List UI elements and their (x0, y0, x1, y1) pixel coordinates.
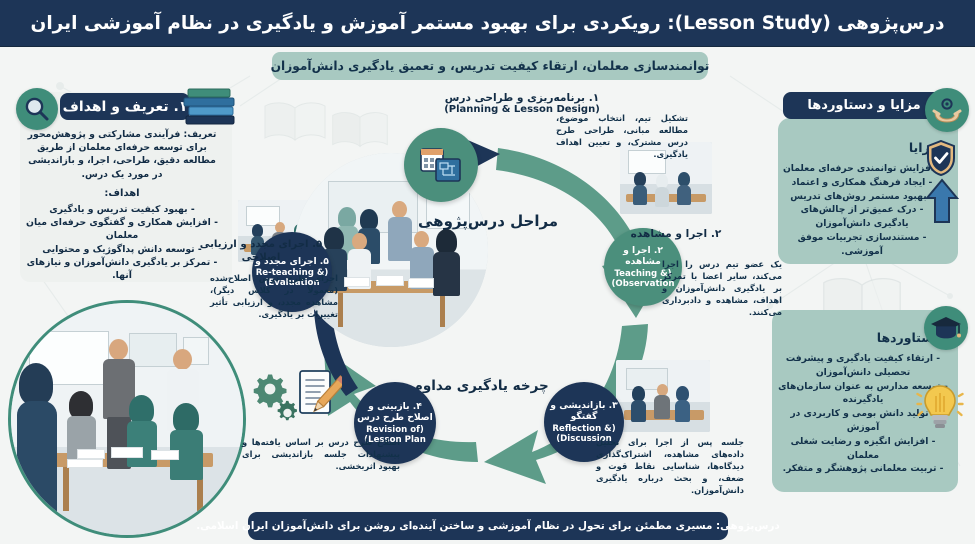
magnifier-icon (16, 88, 58, 130)
discussion-thumbnail-bottom-right (616, 360, 710, 432)
section-title-definition-label: ۱. تعریف و اهداف (63, 99, 188, 115)
step-desc-teaching: یک عضو تیم درس را اجرا می‌کند، سایر اعضا… (662, 258, 782, 318)
list-item: - بهبود مستمر روش‌های تدریس (782, 190, 942, 204)
shield-check-icon (926, 140, 956, 176)
step-title-reteaching-fa: ۵. اجرای مجدد و ارزیابی اصلاحی (196, 238, 326, 265)
header-banner: درس‌پژوهی (Lesson Study): رویکردی برای ب… (0, 0, 975, 46)
document-pencil-icon (296, 368, 342, 424)
cycle-node-planning[interactable] (404, 128, 478, 202)
lightbulb-icon (916, 382, 964, 432)
step-title-teaching: ۲. اجرا و مشاهده (616, 228, 736, 240)
up-arrow-icon (925, 178, 959, 224)
list-item: - ارتقاء کیفیت یادگیری و پیشرفت تحصیلی د… (774, 352, 952, 380)
footer-text: درس‌پژوهی: مسیری مطمئن برای تحول در نظام… (196, 520, 779, 532)
section-title-benefits-label: مزایا و دستاوردها (807, 98, 920, 113)
aims-list: - بهبود کیفیت تدریس و یادگیری - افزایش ه… (22, 203, 222, 282)
list-item: - مستندسازی تجربیات موفق آموزشی. (782, 231, 942, 259)
subtitle-banner: توانمندسازی معلمان، ارتقاء کیفیت تدریس، … (272, 52, 708, 80)
section-title-benefits: مزایا و دستاوردها (783, 92, 945, 119)
section-title-definition: ۱. تعریف و اهداف (60, 93, 190, 120)
list-item: - بهبود کیفیت تدریس و یادگیری (22, 203, 222, 216)
list-item: - تمرکز بر یادگیری دانش‌آموزان و نیازهای… (22, 256, 222, 282)
step-desc-reflection: جلسه پس از اجرا برای تحلیل داده‌های مشاه… (596, 436, 744, 496)
cycle-bottom-label: چرخه یادگیری مداوم (413, 378, 549, 394)
step-title-teaching-fa: ۲. اجرا و مشاهده (616, 228, 736, 240)
cycle-node-reflection-fa: ۳. بازاندیشی و گفتگو (544, 400, 624, 423)
list-item: - توسعه دانش پداگوژیک و محتوایی (22, 243, 222, 256)
list-item: - افزایش توانمندی حرفه‌ای معلمان (782, 162, 942, 176)
advantages-list: - افزایش توانمندی حرفه‌ای معلمان - ایجاد… (782, 162, 942, 259)
graduation-cap-icon (924, 306, 968, 350)
footer-banner: درس‌پژوهی: مسیری مطمئن برای تحول در نظام… (248, 512, 728, 540)
list-item: - افزایش انگیزه و رضایت شغلی معلمان (774, 435, 952, 463)
step-desc-reteaching: اجرای طرح درس اصلاح‌شده (معمولاً در کلاس… (210, 272, 338, 320)
books-stack-icon (182, 85, 238, 127)
cycle-node-revision-fa: ۴. بازبینی و اصلاح طرح درس (354, 401, 436, 424)
infographic-canvas: درس‌پژوهی (Lesson Study): رویکردی برای ب… (0, 0, 975, 544)
list-item: - تربیت معلمانی پژوهشگر و متفکر. (774, 462, 952, 476)
cycle-center-label: مراحل درس‌پژوهی (418, 212, 558, 230)
list-item: - ایجاد فرهنگ همکاری و اعتماد (782, 176, 942, 190)
definition-text: تعریف: فرآیندی مشارکتی و پژوهش‌محور برای… (22, 128, 222, 181)
list-item: - افزایش همکاری و گفتگوی حرفه‌ای میان مع… (22, 216, 222, 242)
page-title: درس‌پژوهی (Lesson Study): رویکردی برای ب… (31, 13, 945, 34)
list-item: - درک عمیق‌تر از چالش‌های یادگیری دانش‌آ… (782, 203, 942, 231)
advantages-heading: مزایا (838, 140, 938, 155)
calendar-blueprint-icon (419, 145, 463, 185)
aims-heading: اهداف: (22, 187, 222, 201)
definition-body: تعریف: فرآیندی مشارکتی و پژوهش‌محور برای… (22, 128, 222, 282)
hands-gear-icon (925, 88, 969, 132)
step-desc-planning: تشکیل تیم، انتخاب موضوع، مطالعه مبانی، ط… (556, 112, 688, 160)
step-title-reteaching: ۵. اجرای مجدد و ارزیابی اصلاحی (196, 238, 326, 265)
step-title-planning-fa: ۱. برنامه‌ریزی و طراحی درس (412, 92, 632, 104)
subtitle-text: توانمندسازی معلمان، ارتقاء کیفیت تدریس، … (271, 59, 710, 73)
teacher-meeting-illustration (8, 300, 246, 538)
step-desc-revision: اصلاح طرح درس بر اساس یافته‌ها و پیشنهاد… (242, 436, 400, 472)
